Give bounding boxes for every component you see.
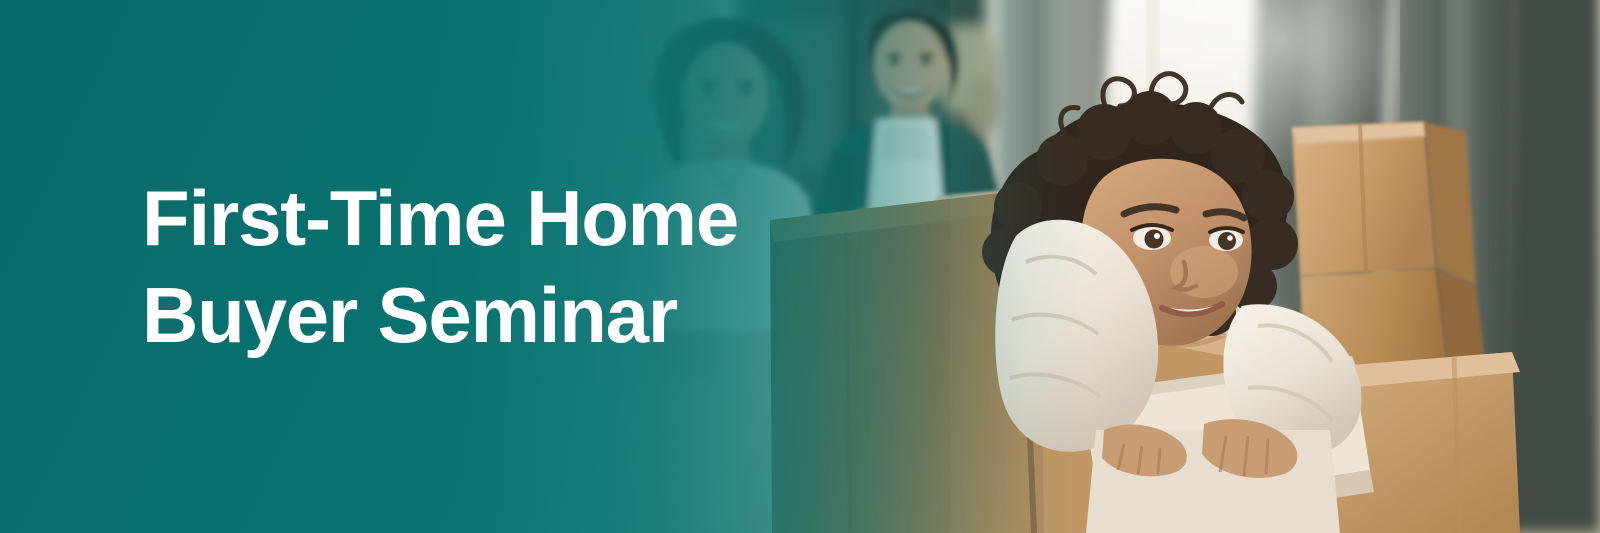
- hero-copy-block: First-Time Home Buyer Seminar: [142, 170, 1042, 364]
- hero-headline-line-1: First-Time Home: [142, 170, 1042, 267]
- hero-banner: First-Time Home Buyer Seminar: [0, 0, 1600, 533]
- hero-headline-line-2: Buyer Seminar: [142, 267, 1042, 364]
